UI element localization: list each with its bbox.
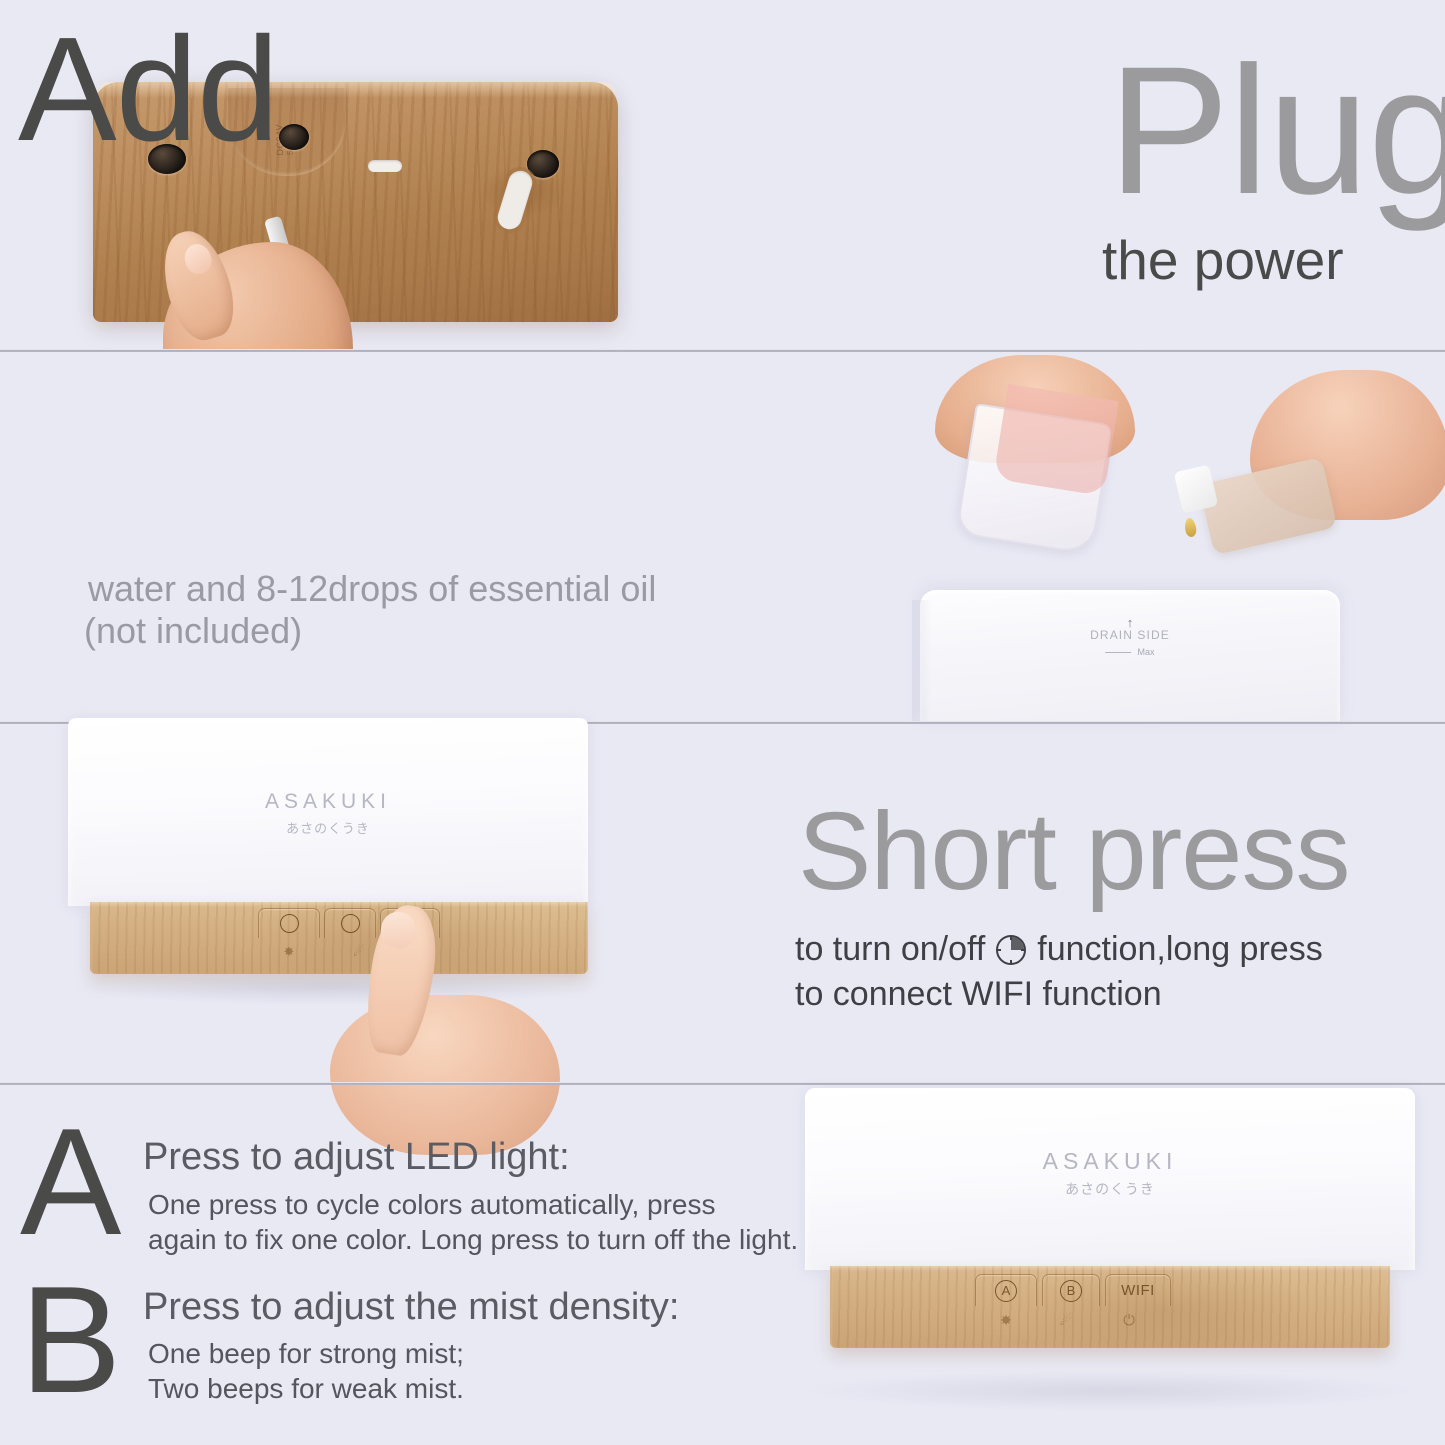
product-shadow [800, 1370, 1420, 1412]
diffuser-wooden-base: WIFI ✸ ☄ ⏻ [90, 902, 588, 974]
brand-name: ASAKUKI [68, 790, 588, 814]
drain-slot [495, 168, 535, 232]
heading-a: Press to adjust LED light: [143, 1136, 570, 1179]
button-a[interactable] [258, 908, 320, 938]
drain-side-label: DRAIN SIDE [1090, 628, 1170, 642]
product-shadow [70, 970, 590, 1006]
add-line-1: water and 8-12drops of essential oil [88, 568, 656, 610]
label-letter-a: A [20, 1120, 121, 1245]
short-press-line-1-before: to turn on/off [795, 930, 985, 969]
button-a-label [280, 914, 299, 933]
button-b[interactable]: B [1042, 1274, 1100, 1306]
fingers-through-cup [993, 384, 1119, 496]
product-instruction-infographic: DC24V 500mA Plug the power ↑ DRAIN SIDE [0, 0, 1445, 1445]
body-b: One beep for strong mist; Two beeps for … [148, 1336, 464, 1407]
short-press-line-1-after: function,long press [1037, 930, 1322, 969]
button-a[interactable]: A [975, 1274, 1037, 1306]
heading-b: Press to adjust the mist density: [143, 1286, 679, 1329]
brand-logo: ASAKUKI あさのくうき [68, 790, 588, 837]
power-jack-icon [279, 124, 309, 150]
short-press-line-2: to connect WIFI function [795, 975, 1162, 1014]
max-label: Max [1137, 647, 1154, 657]
max-line-mark [1105, 652, 1131, 653]
vent-slot [368, 160, 402, 172]
button-b[interactable] [324, 908, 376, 938]
short-press-line-1: to turn on/off function,long press [795, 930, 1323, 969]
diffuser-wooden-base: A B WIFI ✸ ☄ ⏻ [830, 1266, 1390, 1348]
brand-logo: ASAKUKI あさのくうき [805, 1148, 1415, 1199]
button-a-label: A [995, 1280, 1017, 1302]
control-button-row: A B WIFI [975, 1274, 1171, 1306]
add-line-2: (not included) [84, 610, 302, 652]
power-icon: ⏻ [1108, 1312, 1150, 1329]
clock-icon [993, 932, 1029, 968]
plug-subtitle: the power [1102, 228, 1344, 292]
brand-name-jp: あさのくうき [68, 818, 588, 837]
brand-name-jp: あさのくうき [805, 1179, 1415, 1199]
label-letter-b: B [20, 1278, 121, 1403]
light-icon: ✸ [268, 944, 310, 960]
light-icon: ✸ [985, 1312, 1027, 1329]
button-b-label: B [1060, 1280, 1082, 1302]
body-a: One press to cycle colors automatically,… [148, 1187, 798, 1258]
button-b-label [341, 914, 360, 933]
power-jack-icon [527, 150, 559, 178]
short-press-title: Short press [798, 800, 1349, 905]
up-arrow-icon: ↑ [1090, 618, 1170, 628]
plug-title: Plug [1108, 44, 1445, 217]
diffuser-water-tank: ↑ DRAIN SIDE Max [920, 590, 1340, 722]
add-title: Add [18, 20, 278, 161]
button-wifi[interactable]: WIFI [1105, 1274, 1171, 1306]
mist-icon: ☄ [1045, 1312, 1087, 1329]
drain-side-marking: ↑ DRAIN SIDE Max [1090, 618, 1170, 657]
brand-name: ASAKUKI [805, 1148, 1415, 1175]
max-fill-line: Max [1090, 647, 1170, 657]
